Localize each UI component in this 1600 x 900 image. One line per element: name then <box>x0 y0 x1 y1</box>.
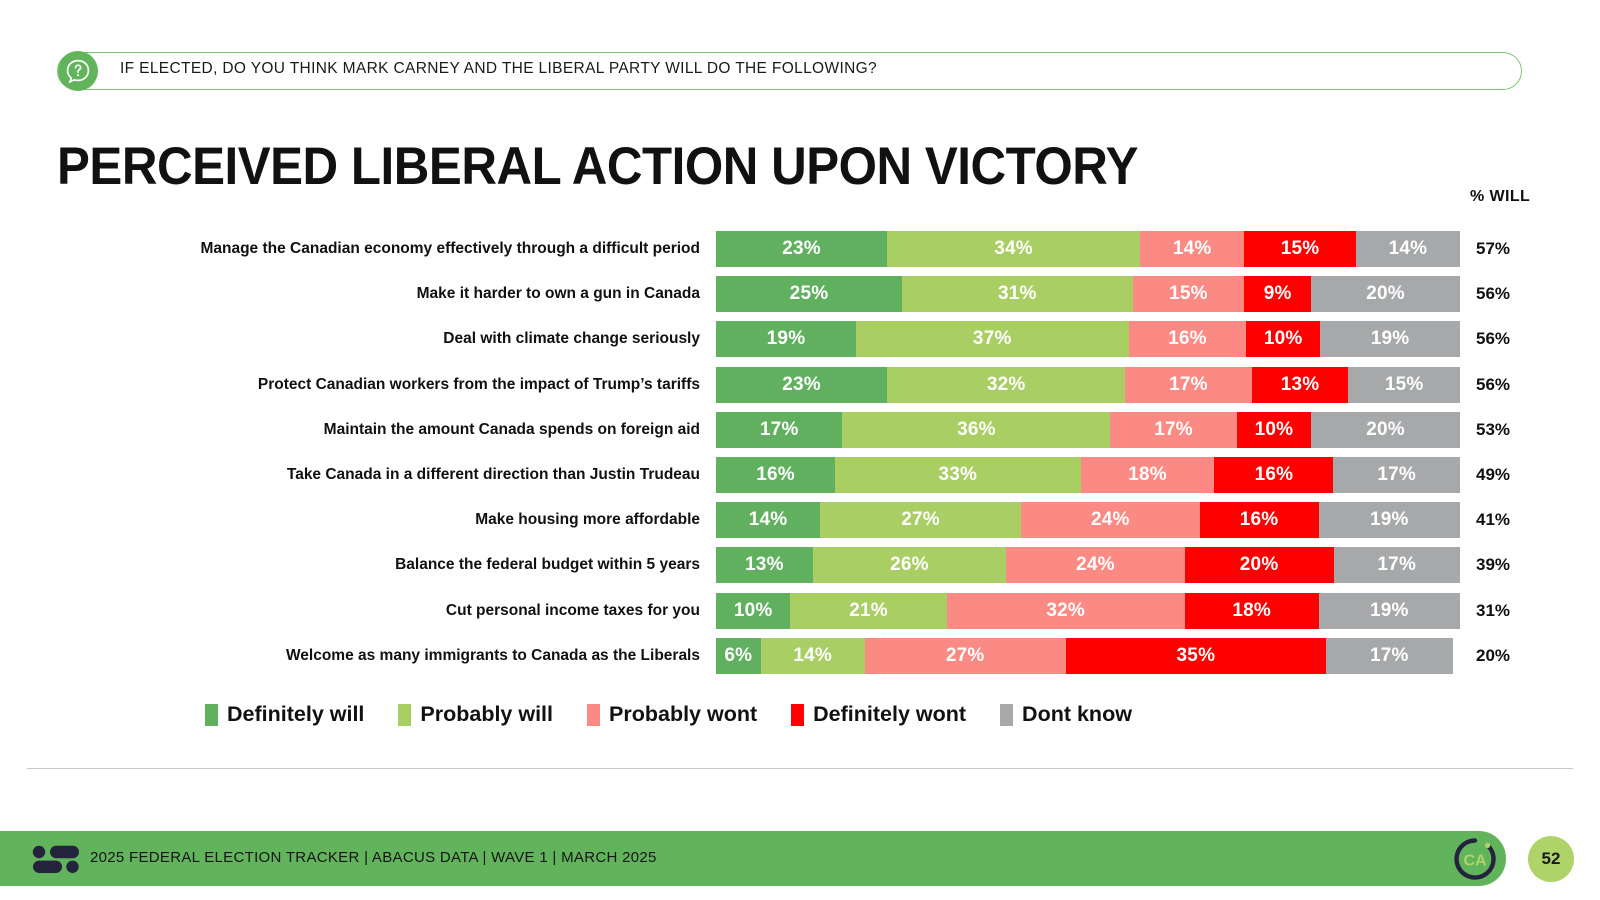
legend-label: Probably wont <box>609 702 757 727</box>
question-speech-bubble-icon <box>58 51 98 91</box>
bar-segment: 15% <box>1348 367 1460 403</box>
bar-segment: 19% <box>1319 502 1460 538</box>
bar-segment: 24% <box>1006 547 1185 583</box>
bar-segment: 34% <box>887 231 1140 267</box>
bar-segment: 26% <box>813 547 1006 583</box>
legend-swatch-icon <box>398 704 411 726</box>
row-total: 56% <box>1476 276 1510 312</box>
stacked-bar: 6%14%27%35%17% <box>716 638 1460 674</box>
bar-segment: 32% <box>887 367 1125 403</box>
stacked-bar-chart: % WILL Manage the Canadian economy effec… <box>0 0 1600 900</box>
bar-segment: 25% <box>716 276 902 312</box>
row-total: 39% <box>1476 547 1510 583</box>
bar-segment: 10% <box>1237 412 1311 448</box>
row-total: 57% <box>1476 231 1510 267</box>
bar-segment: 24% <box>1021 502 1200 538</box>
bar-segment: 19% <box>1319 593 1460 629</box>
bar-segment: 32% <box>947 593 1185 629</box>
bar-segment: 37% <box>856 321 1129 357</box>
bar-segment: 16% <box>1214 457 1333 493</box>
category-label: Make housing more affordable <box>40 502 700 538</box>
category-label: Take Canada in a different direction tha… <box>40 457 700 493</box>
bar-segment: 23% <box>716 367 887 403</box>
legend-item[interactable]: Definitely wont <box>791 702 966 727</box>
bar-segment: 17% <box>1334 547 1460 583</box>
bar-segment: 15% <box>1133 276 1245 312</box>
row-total: 53% <box>1476 412 1510 448</box>
abacus-logo-icon <box>31 843 83 875</box>
bar-segment: 15% <box>1244 231 1356 267</box>
row-total: 20% <box>1476 638 1510 674</box>
row-total: 49% <box>1476 457 1510 493</box>
legend-label: Definitely wont <box>813 702 966 727</box>
legend-item[interactable]: Probably will <box>398 702 553 727</box>
legend-label: Definitely will <box>227 702 364 727</box>
legend-swatch-icon <box>1000 704 1013 726</box>
totals-column-header: % WILL <box>1470 188 1580 206</box>
stacked-bar: 17%36%17%10%20% <box>716 412 1460 448</box>
row-total: 31% <box>1476 593 1510 629</box>
stacked-bar: 25%31%15%9%20% <box>716 276 1460 312</box>
bar-segment: 20% <box>1311 276 1460 312</box>
bar-segment: 10% <box>716 593 790 629</box>
footer-text: 2025 FEDERAL ELECTION TRACKER | ABACUS D… <box>90 849 657 866</box>
bar-segment: 17% <box>1333 457 1459 493</box>
bar-segment: 31% <box>902 276 1133 312</box>
bar-segment: 33% <box>835 457 1081 493</box>
bar-segment: 18% <box>1185 593 1319 629</box>
legend-item[interactable]: Definitely will <box>205 702 364 727</box>
stacked-bar: 13%26%24%20%17% <box>716 547 1460 583</box>
bar-segment: 35% <box>1066 638 1326 674</box>
footer-divider <box>27 768 1573 769</box>
bar-segment: 19% <box>716 321 856 357</box>
bar-segment: 17% <box>1125 367 1251 403</box>
bar-segment: 17% <box>716 412 842 448</box>
category-label: Welcome as many immigrants to Canada as … <box>40 638 700 674</box>
legend-label: Probably will <box>420 702 553 727</box>
bar-segment: 16% <box>1200 502 1319 538</box>
chart-row: Balance the federal budget within 5 year… <box>0 547 1600 583</box>
bar-segment: 18% <box>1081 457 1215 493</box>
stacked-bar: 10%21%32%18%19% <box>716 593 1460 629</box>
chart-legend: Definitely willProbably willProbably won… <box>205 702 1132 727</box>
bar-segment: 14% <box>1140 231 1244 267</box>
bar-segment: 20% <box>1311 412 1460 448</box>
legend-item[interactable]: Dont know <box>1000 702 1132 727</box>
page-number-badge: 52 <box>1528 836 1574 882</box>
chart-row: Take Canada in a different direction tha… <box>0 457 1600 493</box>
bar-segment: 9% <box>1244 276 1311 312</box>
legend-swatch-icon <box>587 704 600 726</box>
category-label: Maintain the amount Canada spends on for… <box>40 412 700 448</box>
row-total: 56% <box>1476 321 1510 357</box>
chart-row: Make housing more affordable14%27%24%16%… <box>0 502 1600 538</box>
chart-row: Welcome as many immigrants to Canada as … <box>0 638 1600 674</box>
chart-row: Protect Canadian workers from the impact… <box>0 367 1600 403</box>
row-total: 56% <box>1476 367 1510 403</box>
category-label: Balance the federal budget within 5 year… <box>40 547 700 583</box>
stacked-bar: 16%33%18%16%17% <box>716 457 1460 493</box>
chart-row: Make it harder to own a gun in Canada25%… <box>0 276 1600 312</box>
category-label: Deal with climate change seriously <box>40 321 700 357</box>
legend-swatch-icon <box>205 704 218 726</box>
bar-segment: 27% <box>865 638 1066 674</box>
ca-badge-icon: CA <box>1452 836 1498 882</box>
bar-segment: 13% <box>1252 367 1349 403</box>
chart-row: Manage the Canadian economy effectively … <box>0 231 1600 267</box>
bar-segment: 27% <box>820 502 1021 538</box>
legend-label: Dont know <box>1022 702 1132 727</box>
bar-segment: 17% <box>1110 412 1236 448</box>
chart-row: Cut personal income taxes for you10%21%3… <box>0 593 1600 629</box>
bar-segment: 16% <box>1129 321 1247 357</box>
bar-segment: 36% <box>842 412 1110 448</box>
stacked-bar: 14%27%24%16%19% <box>716 502 1460 538</box>
bar-segment: 10% <box>1246 321 1320 357</box>
bar-segment: 16% <box>716 457 835 493</box>
chart-row: Deal with climate change seriously19%37%… <box>0 321 1600 357</box>
category-label: Cut personal income taxes for you <box>40 593 700 629</box>
legend-swatch-icon <box>791 704 804 726</box>
bar-segment: 14% <box>761 638 865 674</box>
stacked-bar: 23%32%17%13%15% <box>716 367 1460 403</box>
bar-segment: 23% <box>716 231 887 267</box>
bar-segment: 17% <box>1326 638 1452 674</box>
bar-segment: 21% <box>790 593 946 629</box>
bar-segment: 14% <box>716 502 820 538</box>
stacked-bar: 23%34%14%15%14% <box>716 231 1460 267</box>
category-label: Make it harder to own a gun in Canada <box>40 276 700 312</box>
bar-segment: 20% <box>1185 547 1334 583</box>
svg-text:CA: CA <box>1463 853 1487 870</box>
category-label: Manage the Canadian economy effectively … <box>40 231 700 267</box>
slide: IF ELECTED, DO YOU THINK MARK CARNEY AND… <box>0 0 1600 900</box>
bar-segment: 14% <box>1356 231 1460 267</box>
category-label: Protect Canadian workers from the impact… <box>40 367 700 403</box>
bar-segment: 19% <box>1320 321 1460 357</box>
bar-segment: 13% <box>716 547 813 583</box>
legend-item[interactable]: Probably wont <box>587 702 757 727</box>
chart-row: Maintain the amount Canada spends on for… <box>0 412 1600 448</box>
stacked-bar: 19%37%16%10%19% <box>716 321 1460 357</box>
bar-segment: 6% <box>716 638 761 674</box>
row-total: 41% <box>1476 502 1510 538</box>
